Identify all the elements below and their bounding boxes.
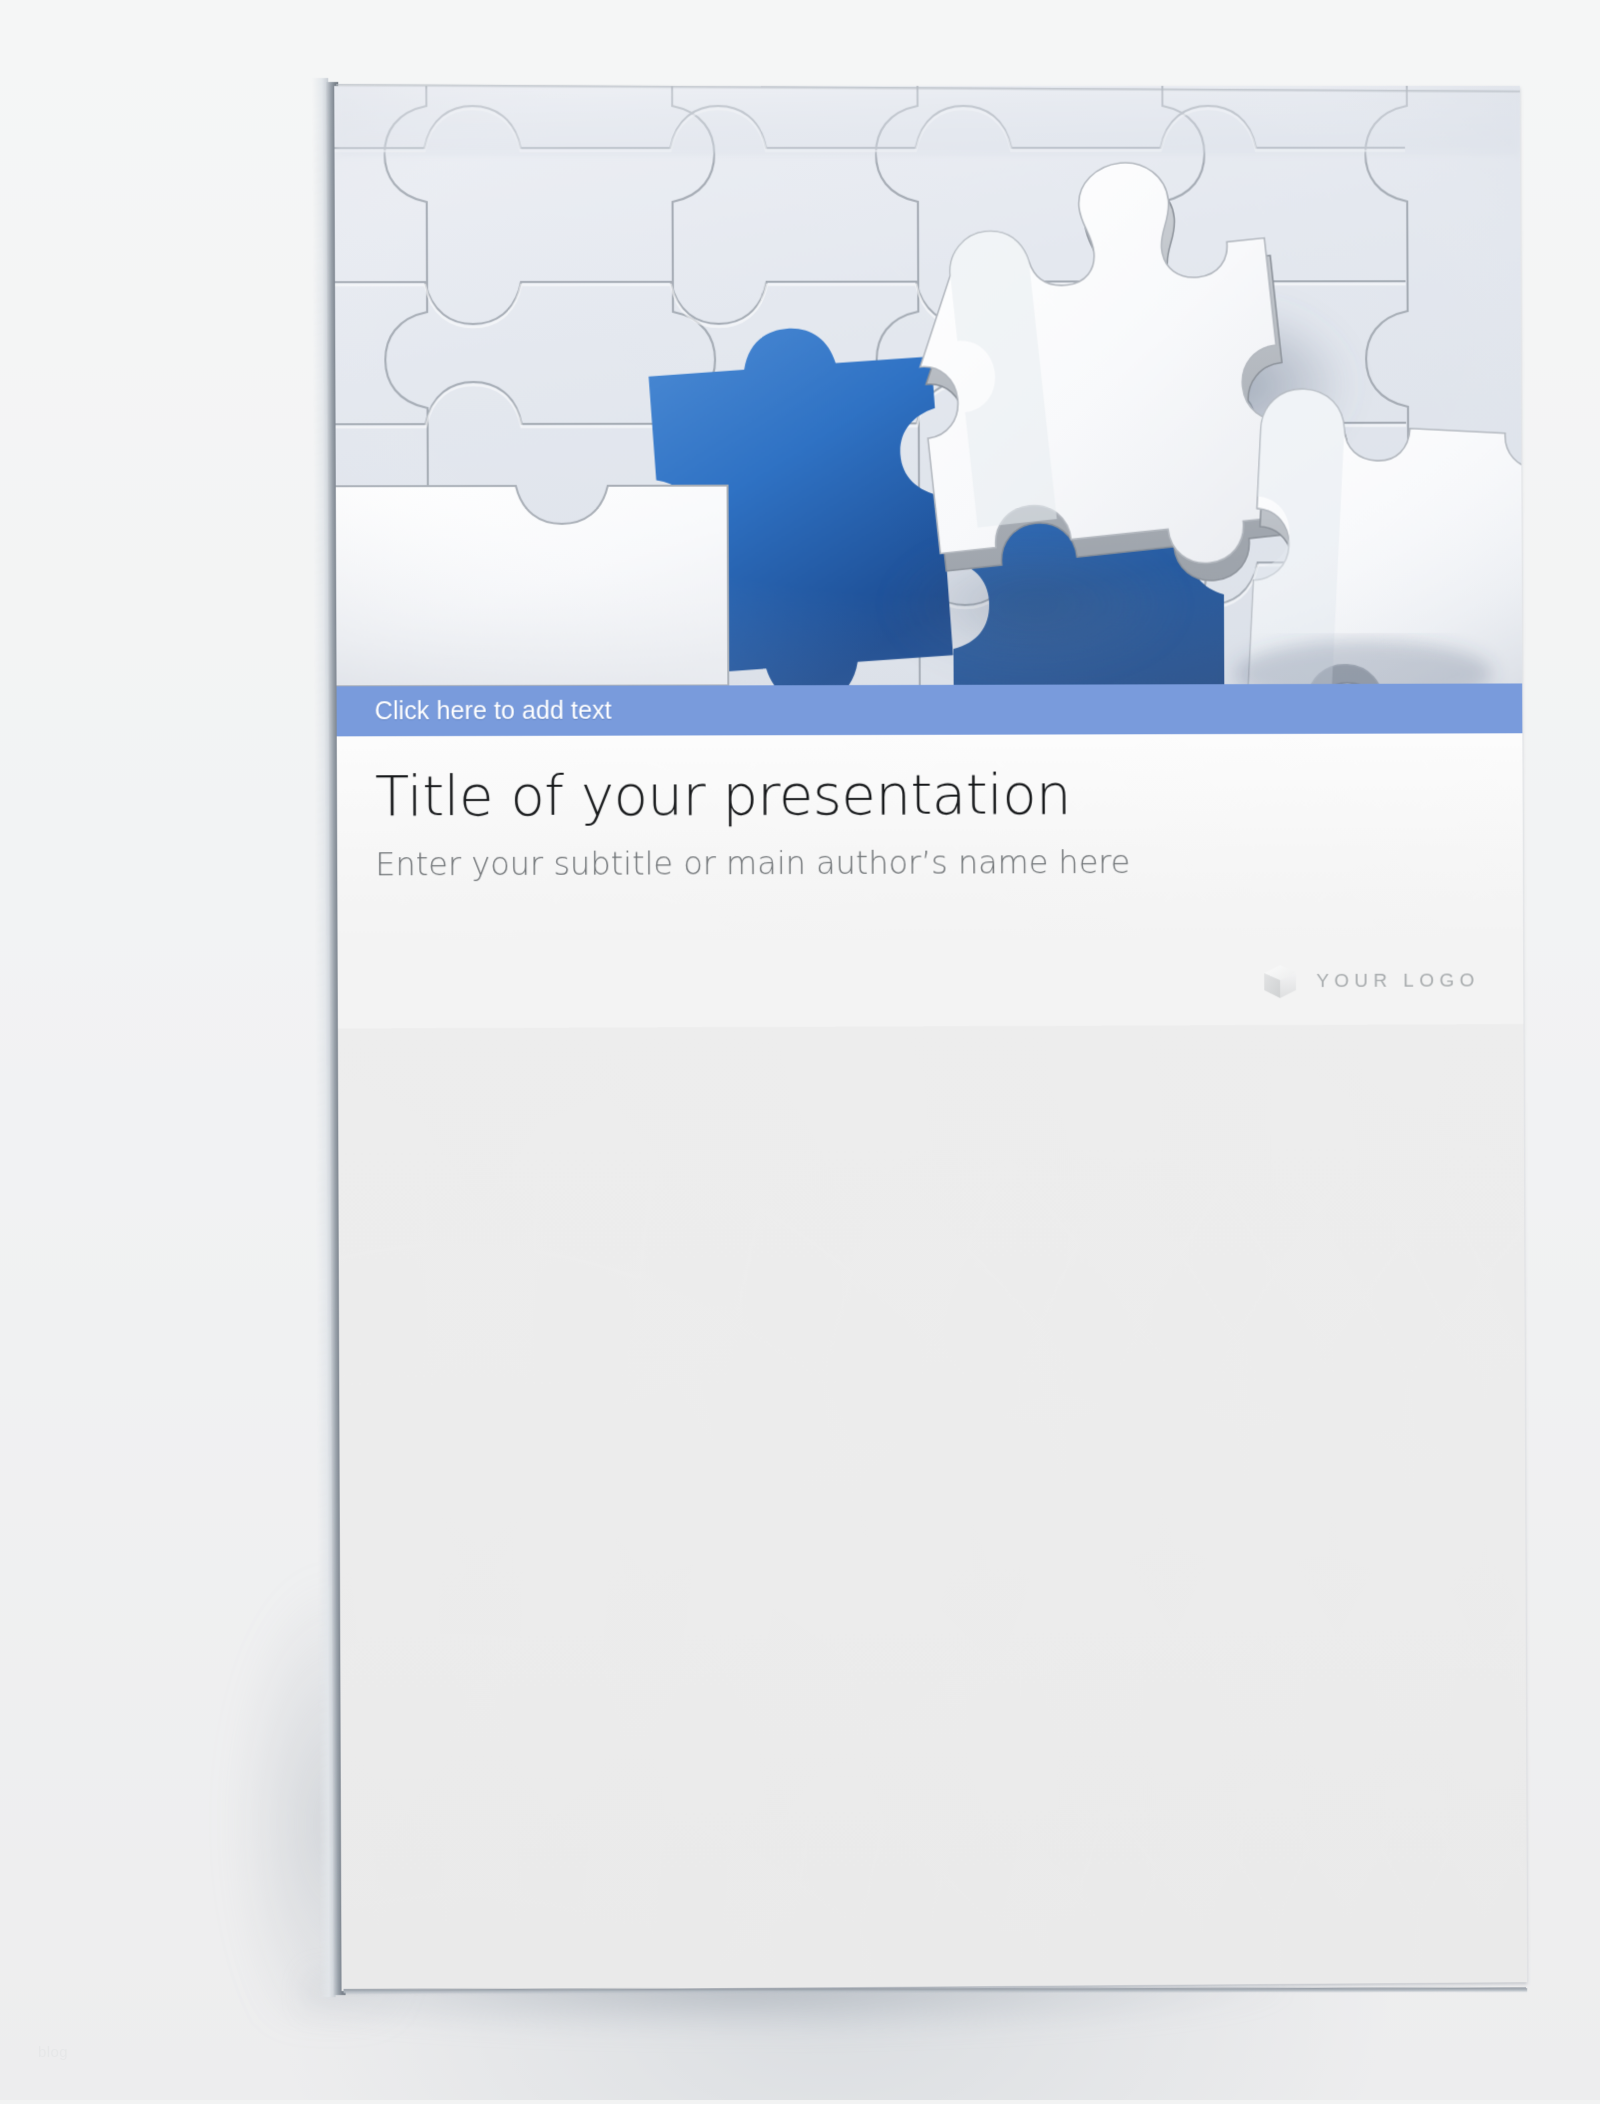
hero-puzzle-image <box>334 86 1522 686</box>
title-block: Title of your presentation Enter your su… <box>337 733 1523 942</box>
caption-placeholder-bar[interactable]: Click here to add text <box>337 683 1523 736</box>
logo-strip: YOUR LOGO <box>338 938 1524 1028</box>
watermark-text: blog <box>38 2044 68 2061</box>
presentation-slide[interactable]: Click here to add text Title of your pre… <box>334 86 1527 1991</box>
caption-placeholder-text: Click here to add text <box>337 696 612 726</box>
cube-icon <box>1261 962 1301 1002</box>
slide-title[interactable]: Title of your presentation <box>337 763 1523 829</box>
slide-subtitle[interactable]: Enter your subtitle or main author’s nam… <box>337 842 1523 884</box>
slide-bottom-edge <box>344 1987 1528 1994</box>
slide-perspective-wrapper: Click here to add text Title of your pre… <box>0 0 1599 2104</box>
logo-text: YOUR LOGO <box>1316 970 1479 993</box>
slide-body-area[interactable] <box>338 1024 1527 1991</box>
